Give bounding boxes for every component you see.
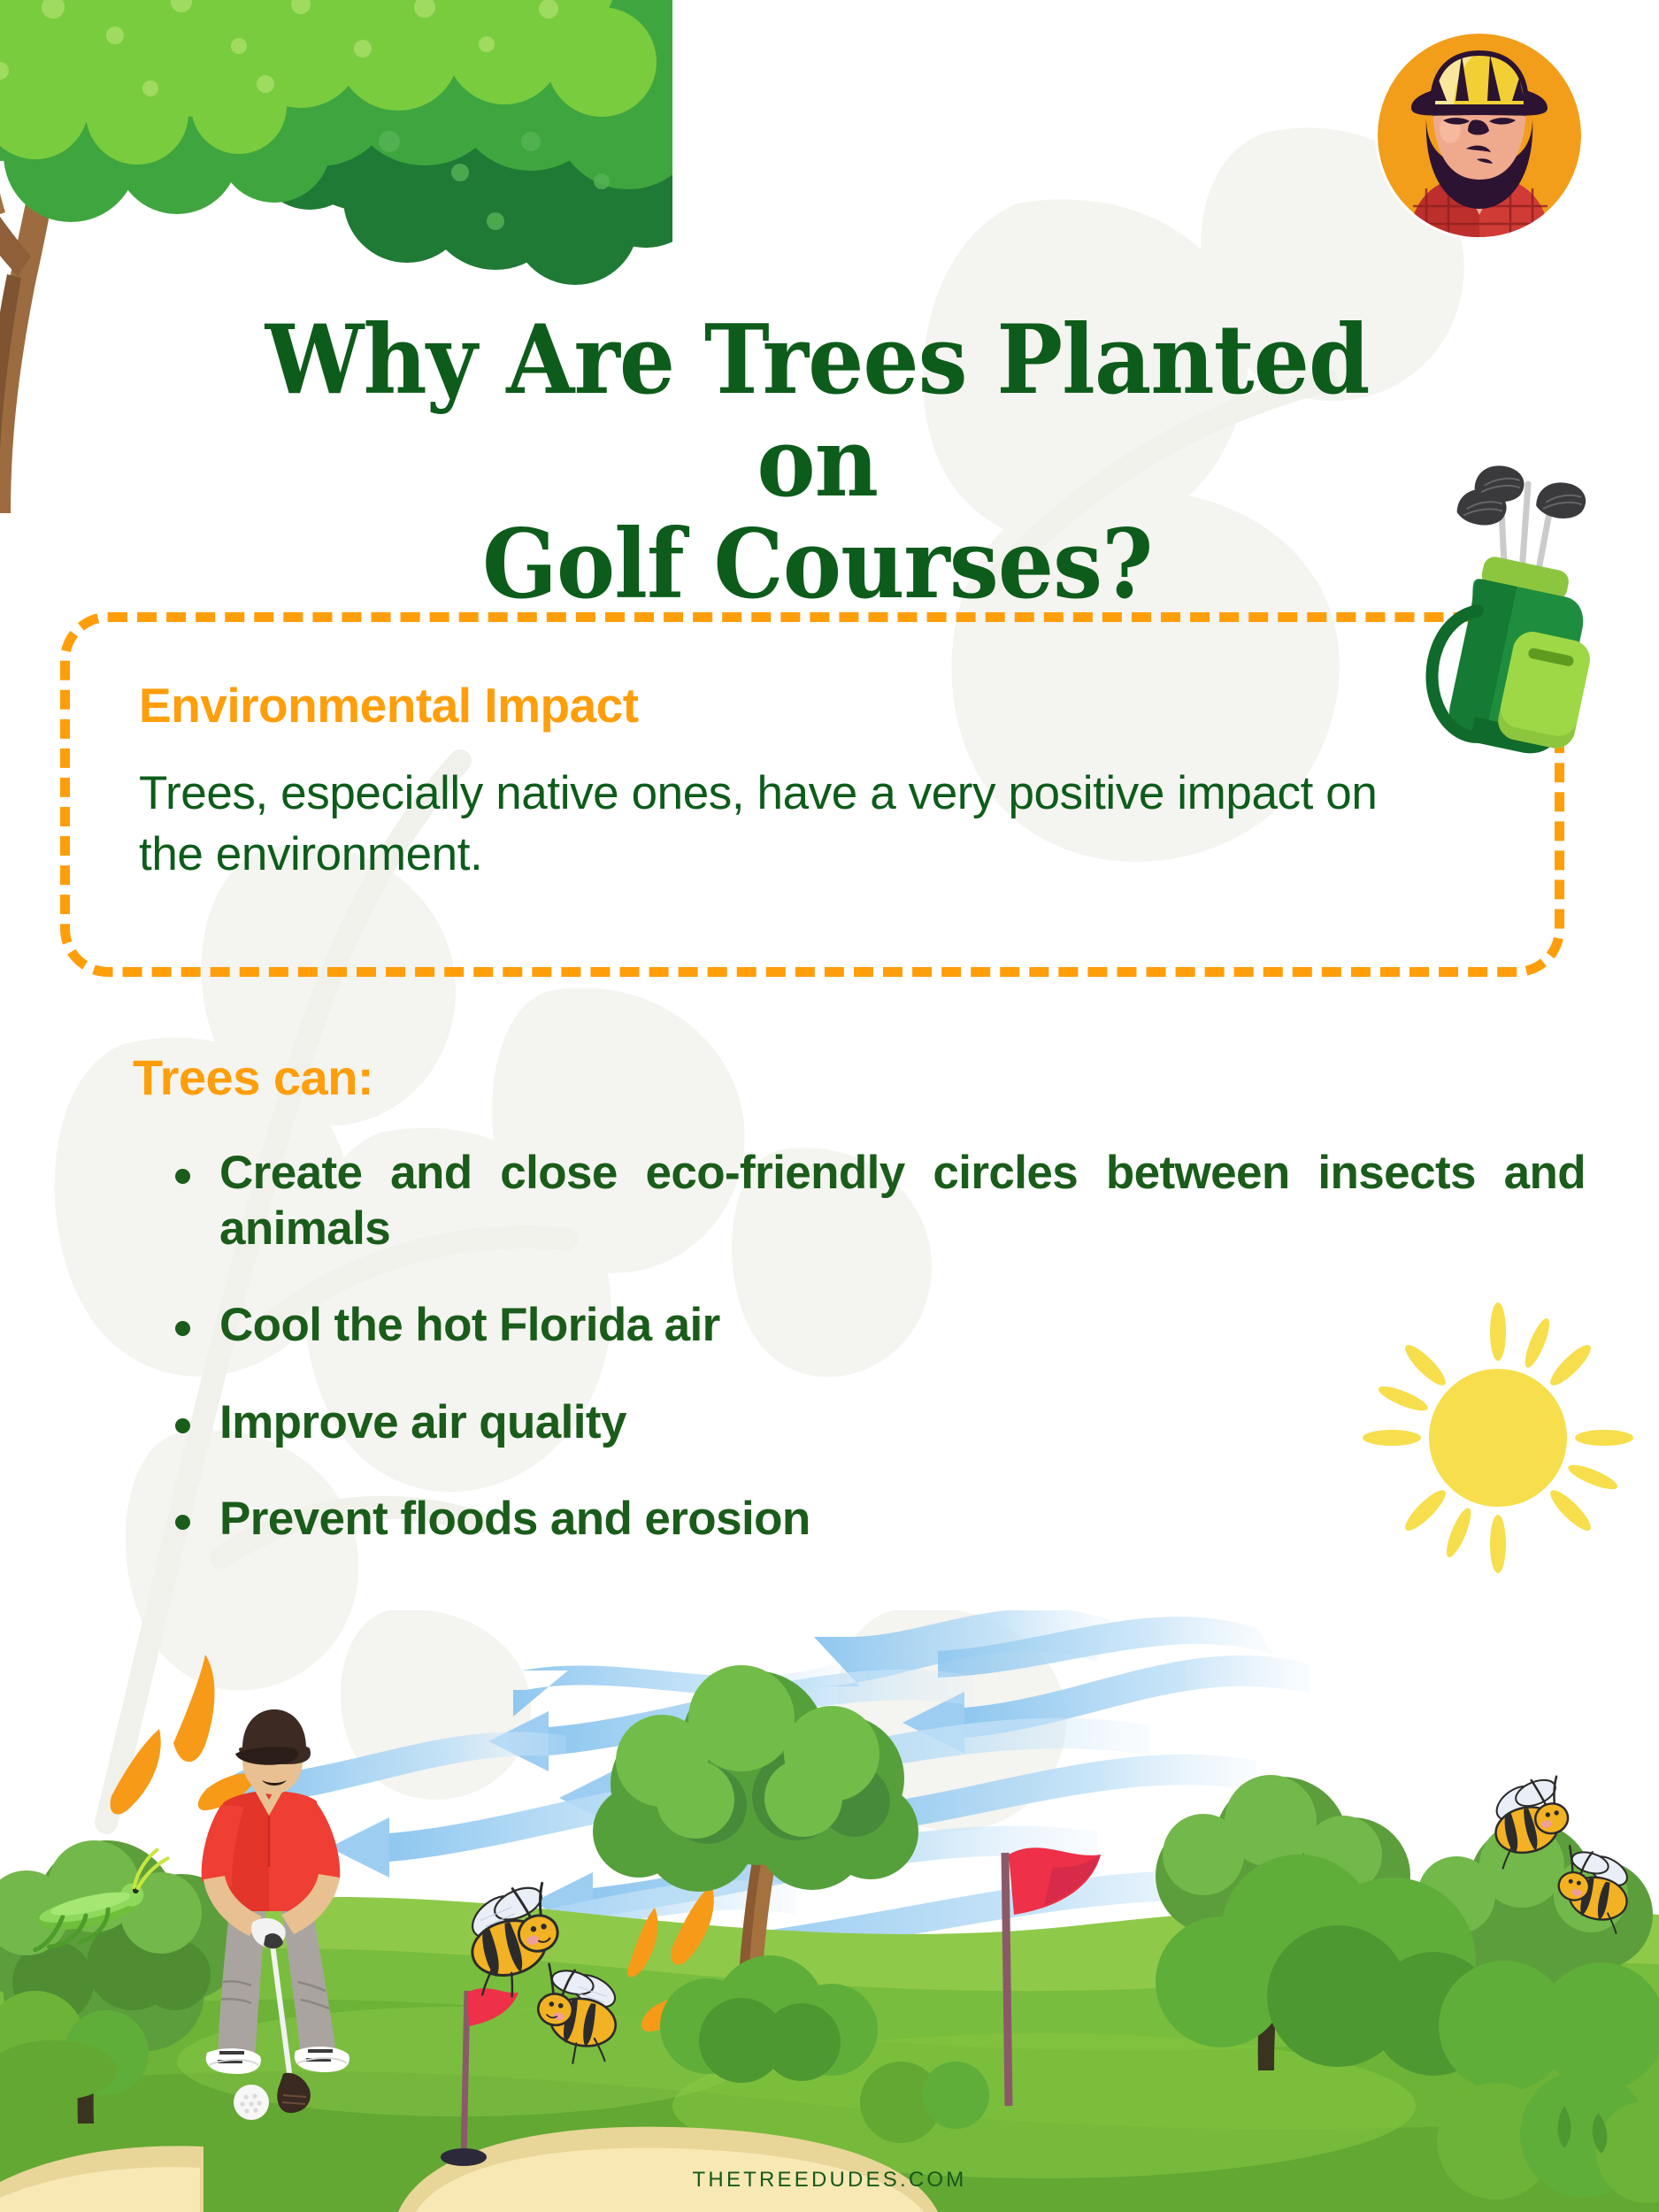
page-title-line-2: Golf Courses? xyxy=(254,514,1381,617)
list-item: Improve air quality xyxy=(165,1395,1586,1451)
golf-hole-icon xyxy=(441,2148,487,2166)
list-item: Cool the hot Florida air xyxy=(165,1298,1586,1354)
callout-body: Trees, especially native ones, have a ve… xyxy=(139,764,1448,886)
avatar xyxy=(1378,34,1581,237)
list-item: Prevent floods and erosion xyxy=(165,1492,1586,1548)
list-item: Create and close eco-friendly circles be… xyxy=(165,1146,1586,1256)
callout-heading: Environmental Impact xyxy=(139,677,1493,733)
list-heading: Trees can: xyxy=(133,1048,373,1106)
page-title: Why Are Trees Planted on Golf Courses? xyxy=(66,310,1593,617)
environmental-impact-callout: Environmental Impact Trees, especially n… xyxy=(60,612,1564,977)
impact-sparkle-icon xyxy=(111,1655,258,1815)
footer-url: THETREEDUDES.COM xyxy=(0,2168,1659,2193)
golf-ball-icon xyxy=(234,2085,269,2120)
golf-course-scene xyxy=(0,1610,1659,2212)
benefits-list: Create and close eco-friendly circles be… xyxy=(165,1146,1586,1548)
lumberjack-hardhat-avatar-icon xyxy=(1378,34,1581,237)
page-title-line-1: Why Are Trees Planted on xyxy=(265,304,1370,518)
golf-bag-with-clubs-icon xyxy=(1392,460,1657,787)
